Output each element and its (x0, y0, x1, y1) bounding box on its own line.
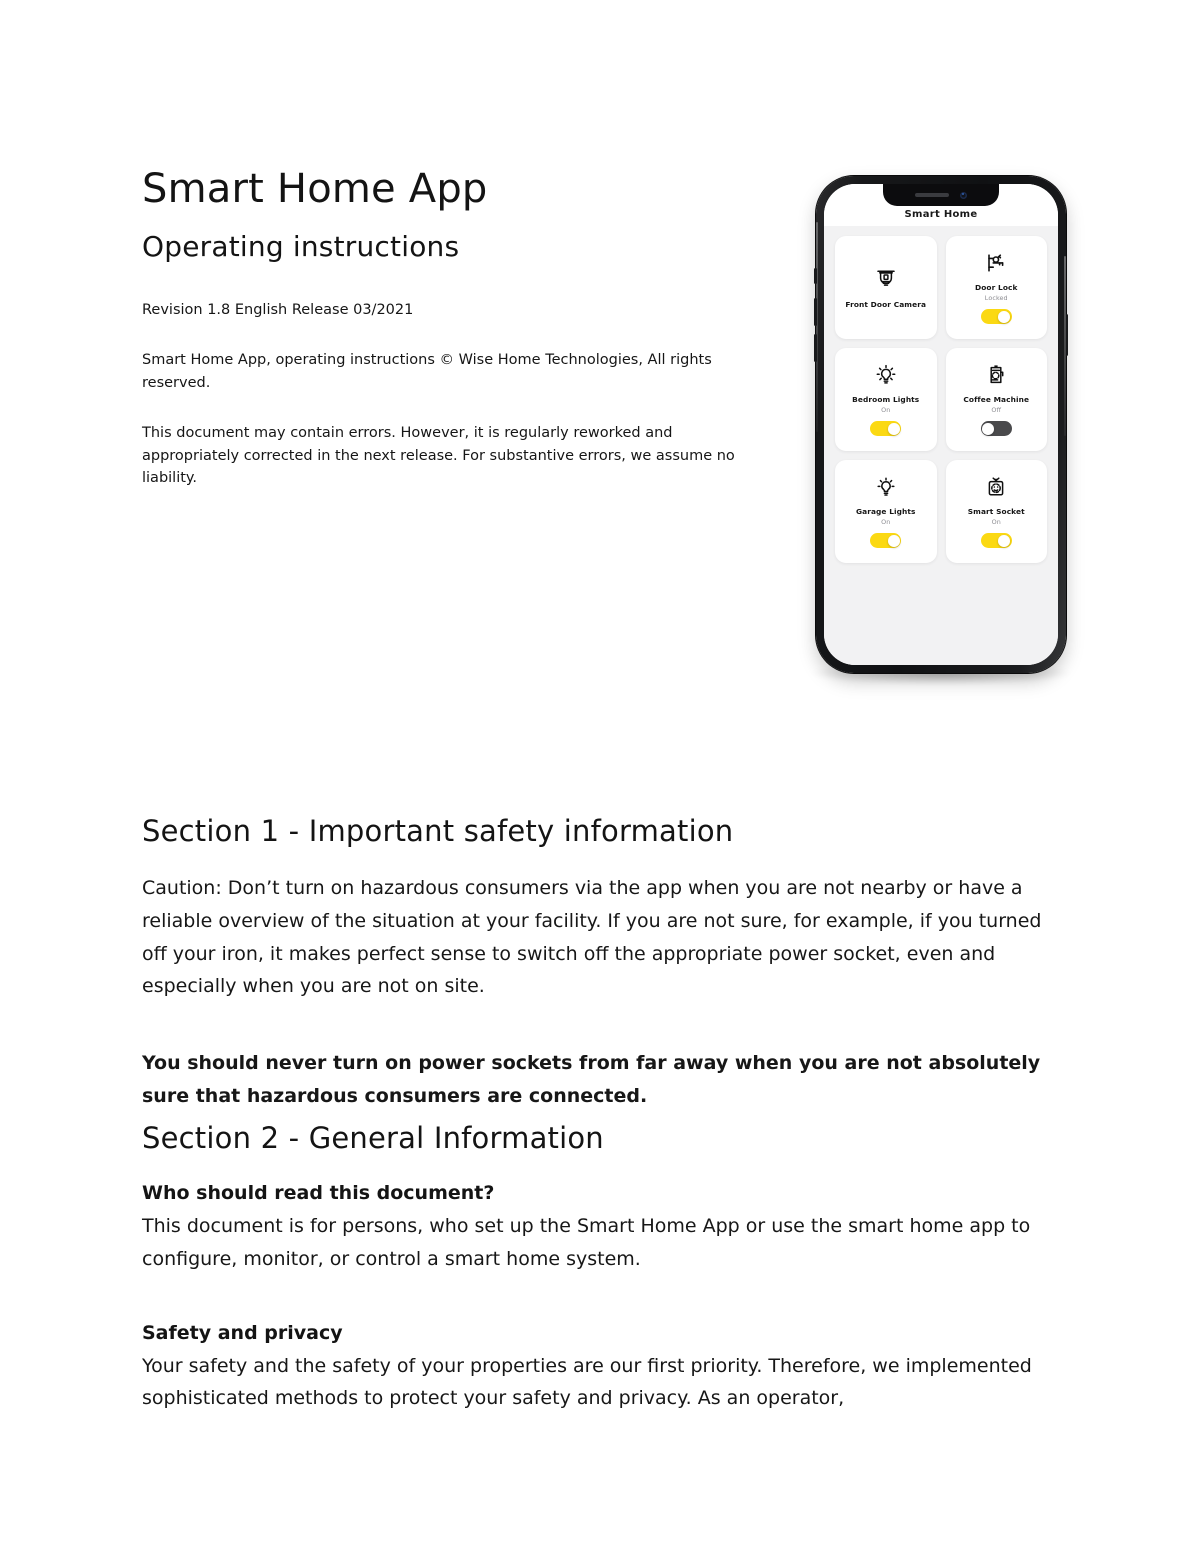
device-status: Locked (985, 294, 1008, 302)
front-camera-icon (960, 192, 967, 199)
volume-down-button[interactable] (814, 334, 817, 362)
section-1-warning: You should never turn on power sockets f… (142, 1047, 1072, 1112)
device-label: Coffee Machine (963, 395, 1029, 404)
device-card-smart-socket[interactable]: Smart Socket On (946, 460, 1048, 563)
disclaimer-line: This document may contain errors. Howeve… (142, 422, 742, 489)
device-toggle-bedroom-lights[interactable] (870, 421, 901, 436)
section-2-sub2-heading: Safety and privacy (142, 1319, 1072, 1348)
earpiece-speaker-icon (915, 193, 949, 197)
app-device-area: Front Door Camera (824, 226, 1058, 665)
lightbulb-icon (874, 475, 898, 499)
device-label: Front Door Camera (845, 300, 926, 309)
device-toggle-garage-lights[interactable] (870, 533, 901, 548)
device-label: Bedroom Lights (852, 395, 919, 404)
ceiling-camera-icon (874, 266, 898, 290)
paragraph-spacer (142, 1301, 1072, 1319)
section-2-heading: Section 2 - General Information (142, 1122, 1072, 1155)
phone-mockup: Smart Home (806, 176, 1076, 696)
paragraph-spacer (142, 1029, 1072, 1047)
device-card-door-lock[interactable]: Door Lock Locked (946, 236, 1048, 339)
power-button[interactable] (1065, 314, 1068, 356)
app-title: Smart Home (904, 209, 977, 220)
device-card-garage-lights[interactable]: Garage Lights On (835, 460, 937, 563)
volume-up-button[interactable] (814, 298, 817, 326)
device-status: Off (991, 406, 1001, 414)
device-card-front-door-camera[interactable]: Front Door Camera (835, 236, 937, 339)
section-2-sub1-heading: Who should read this document? (142, 1179, 1072, 1208)
door-handle-key-icon (984, 251, 1008, 275)
device-label: Smart Socket (968, 507, 1025, 516)
revision-line: Revision 1.8 English Release 03/2021 (142, 299, 742, 321)
device-card-bedroom-lights[interactable]: Bedroom Lights On (835, 348, 937, 451)
phone-screen: Smart Home (824, 184, 1058, 665)
mute-switch[interactable] (814, 268, 817, 284)
lightbulb-icon (874, 363, 898, 387)
device-card-coffee-machine[interactable]: Coffee Machine Off (946, 348, 1048, 451)
coffee-machine-icon (984, 363, 1008, 387)
device-label: Garage Lights (856, 507, 916, 516)
toggle-knob (888, 423, 900, 435)
section-1-heading: Section 1 - Important safety information (142, 815, 1072, 848)
section-1: Section 1 - Important safety information… (142, 815, 1072, 1138)
device-label: Door Lock (975, 283, 1018, 292)
phone-frame: Smart Home (816, 176, 1066, 673)
device-status: On (881, 406, 890, 414)
copyright-line: Smart Home App, operating instructions ©… (142, 349, 742, 394)
toggle-knob (982, 423, 994, 435)
section-2: Section 2 - General Information Who shou… (142, 1122, 1072, 1441)
toggle-knob (998, 311, 1010, 323)
section-2-sub2-body: Your safety and the safety of your prope… (142, 1350, 1072, 1415)
toggle-knob (888, 535, 900, 547)
device-toggle-coffee-machine[interactable] (981, 421, 1012, 436)
device-toggle-door-lock[interactable] (981, 309, 1012, 324)
device-toggle-smart-socket[interactable] (981, 533, 1012, 548)
power-socket-icon (984, 475, 1008, 499)
document-page: Smart Home App Operating instructions Re… (0, 0, 1200, 1553)
section-2-sub1-body: This document is for persons, who set up… (142, 1210, 1072, 1275)
device-grid: Front Door Camera (835, 236, 1047, 563)
section-1-paragraph: Caution: Don’t turn on hazardous consume… (142, 872, 1072, 1003)
phone-notch (883, 184, 999, 206)
device-status: On (881, 518, 890, 526)
device-status: On (992, 518, 1001, 526)
toggle-knob (998, 535, 1010, 547)
